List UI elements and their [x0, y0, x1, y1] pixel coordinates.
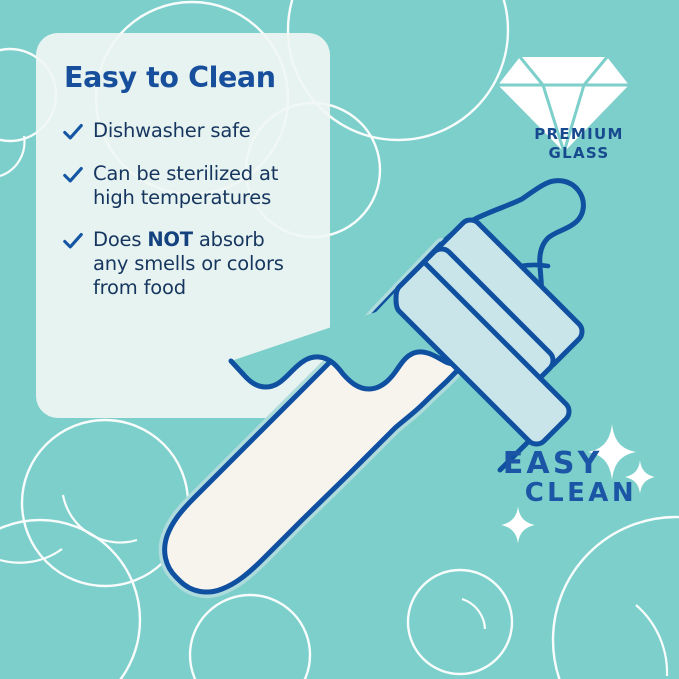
premium-glass-badge: PREMIUM GLASS: [516, 125, 642, 163]
list-item-label: Does NOT absorb any smells or colors fro…: [93, 228, 304, 299]
stamp-line-2: CLEAN: [525, 480, 637, 508]
list-item: Can be sterilized at high temperatures: [62, 162, 304, 210]
badge-line-2: GLASS: [516, 144, 642, 163]
bullet-text-3-emphasis: NOT: [147, 228, 193, 251]
check-icon: [62, 121, 84, 143]
bullet-text-3-pre: Does: [93, 228, 147, 251]
bullet-text-1: Dishwasher safe: [93, 119, 251, 142]
page-title: Easy to Clean: [64, 63, 304, 93]
stamp-line-1: EASY: [503, 448, 637, 480]
check-icon: [62, 164, 84, 186]
promo-image: Easy to Clean Dishwasher safe Can be ste…: [0, 0, 679, 679]
list-item-label: Can be sterilized at high temperatures: [93, 162, 304, 210]
list-item-label: Dishwasher safe: [93, 119, 251, 143]
easy-clean-stamp: EASY CLEAN: [503, 448, 637, 507]
check-icon: [62, 230, 84, 252]
badge-line-1: PREMIUM: [516, 125, 642, 144]
list-item: Does NOT absorb any smells or colors fro…: [62, 228, 304, 299]
bullet-text-2: Can be sterilized at high temperatures: [93, 162, 278, 209]
feature-card: Easy to Clean Dishwasher safe Can be ste…: [36, 33, 330, 418]
list-item: Dishwasher safe: [62, 119, 304, 143]
